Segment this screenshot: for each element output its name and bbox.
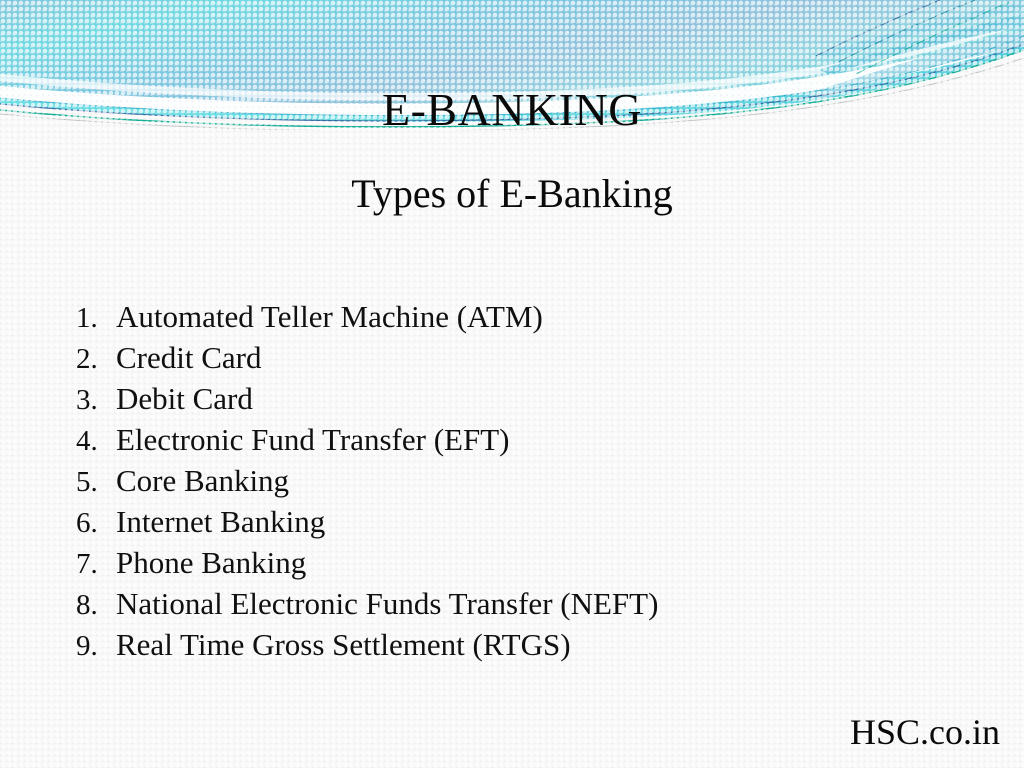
list-item: 4. Electronic Fund Transfer (EFT) — [70, 419, 970, 460]
list-item-number: 8. — [70, 585, 116, 626]
list-item-number: 7. — [70, 544, 116, 585]
slide-title: E-BANKING — [0, 85, 1024, 135]
list-item: 8. National Electronic Funds Transfer (N… — [70, 583, 970, 624]
list-item-number: 9. — [70, 626, 116, 667]
list-item-label: Electronic Fund Transfer (EFT) — [116, 419, 970, 460]
list-item: 3. Debit Card — [70, 378, 970, 419]
list-item-label: Internet Banking — [116, 501, 970, 542]
list-item-number: 3. — [70, 380, 116, 421]
list-item: 7. Phone Banking — [70, 542, 970, 583]
list-item: 1. Automated Teller Machine (ATM) — [70, 296, 970, 337]
slide-subtitle: Types of E-Banking — [0, 170, 1024, 218]
list-item-label: Core Banking — [116, 460, 970, 501]
list-item: 2. Credit Card — [70, 337, 970, 378]
list-item-number: 1. — [70, 298, 116, 339]
list-item-number: 2. — [70, 339, 116, 380]
list-item-label: Phone Banking — [116, 542, 970, 583]
list-item-number: 6. — [70, 503, 116, 544]
types-list: 1. Automated Teller Machine (ATM) 2. Cre… — [70, 296, 970, 665]
list-item-label: Real Time Gross Settlement (RTGS) — [116, 624, 970, 665]
list-item: 5. Core Banking — [70, 460, 970, 501]
footer-watermark: HSC.co.in — [850, 710, 1000, 754]
list-item-label: Credit Card — [116, 337, 970, 378]
list-item-number: 4. — [70, 421, 116, 462]
list-item: 6. Internet Banking — [70, 501, 970, 542]
list-item: 9. Real Time Gross Settlement (RTGS) — [70, 624, 970, 665]
list-item-label: Debit Card — [116, 378, 970, 419]
slide-canvas: E-BANKING Types of E-Banking 1. Automate… — [0, 0, 1024, 768]
list-item-label: National Electronic Funds Transfer (NEFT… — [116, 583, 970, 624]
list-item-number: 5. — [70, 462, 116, 503]
list-item-label: Automated Teller Machine (ATM) — [116, 296, 970, 337]
